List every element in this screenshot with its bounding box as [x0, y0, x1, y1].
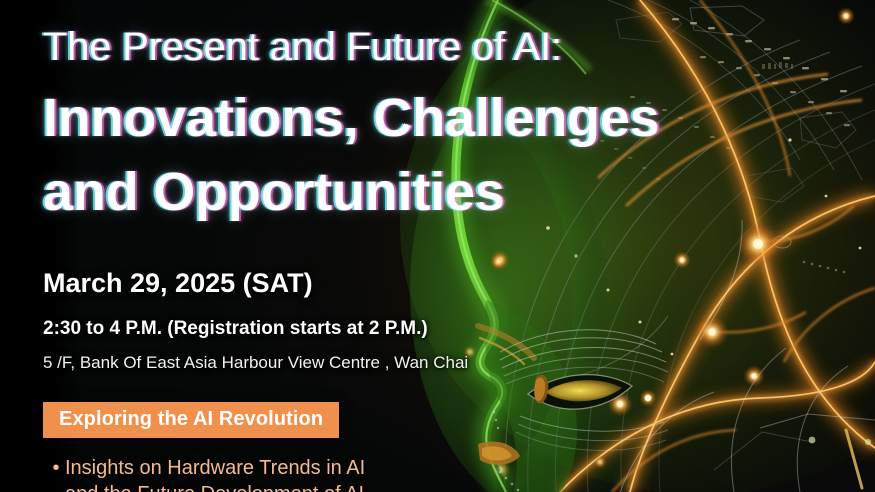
- poster-title-line-1: The Present and Future of AI:: [43, 27, 562, 67]
- bullet-point-icon: •: [47, 455, 65, 481]
- bullet-text-line-1: Insights on Hardware Trends in AI: [65, 455, 365, 481]
- section-badge: Exploring the AI Revolution: [43, 402, 339, 438]
- event-date: March 29, 2025 (SAT): [43, 268, 313, 299]
- poster-title-line-2: Innovations, Challenges: [43, 91, 660, 145]
- poster-title-line-3: and Opportunities: [43, 165, 505, 219]
- section-badge-label: Exploring the AI Revolution: [59, 408, 323, 430]
- bullet-text-line-2: and the Future Development of AI: [65, 481, 364, 492]
- ai-event-poster: The Present and Future of AI: Innovation…: [0, 0, 875, 492]
- topic-bullet-list: • Insights on Hardware Trends in AI and …: [47, 455, 567, 492]
- event-venue: 5 /F, Bank Of East Asia Harbour View Cen…: [43, 353, 468, 373]
- poster-text-content: The Present and Future of AI: Innovation…: [43, 0, 843, 492]
- event-time: 2:30 to 4 P.M. (Registration starts at 2…: [43, 318, 428, 340]
- list-item: • Insights on Hardware Trends in AI and …: [47, 455, 567, 492]
